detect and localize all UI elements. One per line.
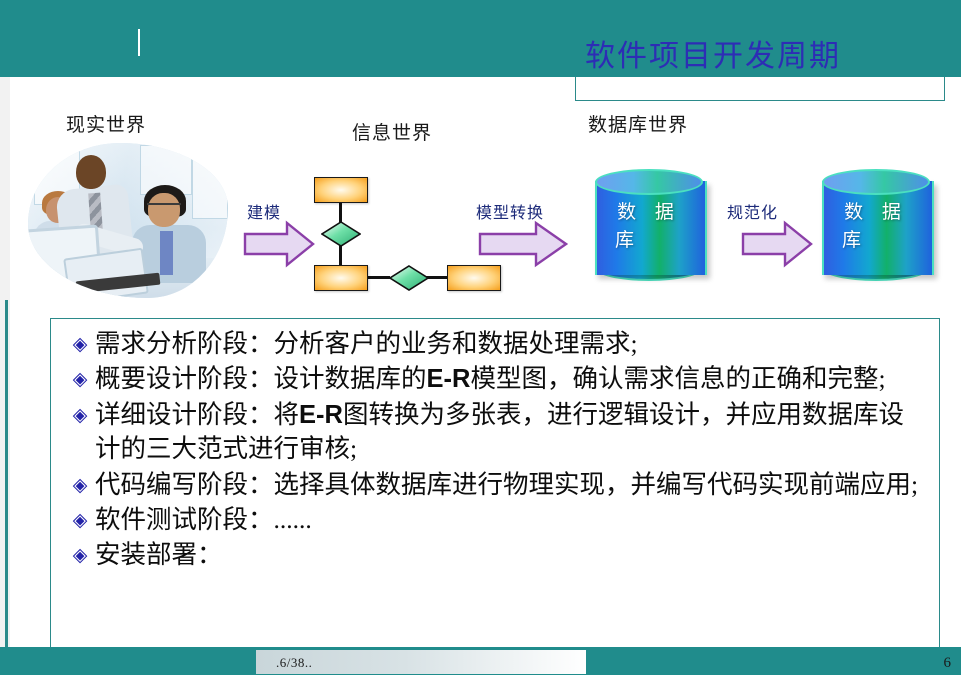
photo-person-glasses <box>147 203 181 212</box>
diamond-bullet-icon: ◈ <box>65 468 95 495</box>
cylinder-top <box>822 169 930 195</box>
bullet-text: 软件测试阶段：...... <box>95 503 923 536</box>
er-relationship-diamond <box>321 221 359 245</box>
slide-root: 软件项目开发周期 现实世界 信息世界 数据库世界 建模 模型转换 规范化 <box>0 0 961 675</box>
cylinder-label-line1: 数 据 <box>617 202 681 223</box>
page-title: 软件项目开发周期 <box>585 31 841 75</box>
er-relationship-diamond <box>389 265 427 289</box>
er-connector-line <box>426 276 448 279</box>
bullet-text: 详细设计阶段：将E-R图转换为多张表，进行逻辑设计，并应用数据库设计的三大范式进… <box>95 398 923 465</box>
office-team-photo <box>28 143 228 298</box>
bullet-list: ◈需求分析阶段：分析客户的业务和数据处理需求;◈概要设计阶段：设计数据库的E-R… <box>51 319 939 571</box>
bullet-item-coding: ◈代码编写阶段：选择具体数据库进行物理实现，并编写代码实现前端应用; <box>51 468 939 501</box>
diamond-bullet-icon: ◈ <box>65 362 95 389</box>
bullet-text: 概要设计阶段：设计数据库的E-R模型图，确认需求信息的正确和完整; <box>95 362 923 396</box>
diamond-bullet-icon: ◈ <box>65 327 95 354</box>
database-cylinder-2: 数 据 库 <box>822 169 930 287</box>
er-connector-line <box>366 276 390 279</box>
arrow-normalization <box>741 220 813 273</box>
bullet-item-software-testing: ◈软件测试阶段：...... <box>51 503 939 536</box>
text-cursor-marker <box>138 29 140 56</box>
bullet-text: 安装部署： <box>95 538 923 571</box>
bullet-item-outline-design: ◈概要设计阶段：设计数据库的E-R模型图，确认需求信息的正确和完整; <box>51 362 939 396</box>
er-entity-box <box>314 177 368 203</box>
bullet-item-requirement-analysis: ◈需求分析阶段：分析客户的业务和数据处理需求; <box>51 327 939 360</box>
er-entity-box <box>447 265 501 291</box>
photo-person-head <box>76 155 106 189</box>
diamond-bullet-icon: ◈ <box>65 503 95 530</box>
bullet-item-detailed-design: ◈详细设计阶段：将E-R图转换为多张表，进行逻辑设计，并应用数据库设计的三大范式… <box>51 398 939 465</box>
diamond-bullet-icon: ◈ <box>65 538 95 565</box>
progress-text: .6/38.. <box>276 655 312 671</box>
cylinder-label: 数 据 库 <box>595 199 703 255</box>
er-connector-line <box>339 244 342 267</box>
bullet-item-installation-deployment: ◈安装部署： <box>51 538 939 571</box>
diagram-stage: 现实世界 信息世界 数据库世界 建模 模型转换 规范化 <box>0 77 961 317</box>
cylinder-label-line2: 库 <box>822 227 930 255</box>
database-cylinder-1: 数 据 库 <box>595 169 703 287</box>
photo-window-pane <box>192 153 228 219</box>
cylinder-label-line1: 数 据 <box>844 202 908 223</box>
cylinder-label: 数 据 库 <box>822 199 930 255</box>
diamond-bullet-icon: ◈ <box>65 398 95 425</box>
label-database-world: 数据库世界 <box>588 110 688 137</box>
page-number: 6 <box>944 655 952 672</box>
photo-person-tie <box>160 231 173 275</box>
cylinder-label-line2: 库 <box>595 227 703 255</box>
er-connector-line <box>339 201 342 223</box>
content-box: ◈需求分析阶段：分析客户的业务和数据处理需求;◈概要设计阶段：设计数据库的E-R… <box>50 318 940 675</box>
er-entity-box <box>314 265 368 291</box>
cylinder-top <box>595 169 703 195</box>
left-accent-rule <box>5 300 8 652</box>
bullet-text: 代码编写阶段：选择具体数据库进行物理实现，并编写代码实现前端应用; <box>95 468 923 501</box>
er-diagram <box>295 177 495 297</box>
label-real-world: 现实世界 <box>66 110 146 137</box>
label-information-world: 信息世界 <box>352 118 432 145</box>
bullet-text: 需求分析阶段：分析客户的业务和数据处理需求; <box>95 327 923 360</box>
